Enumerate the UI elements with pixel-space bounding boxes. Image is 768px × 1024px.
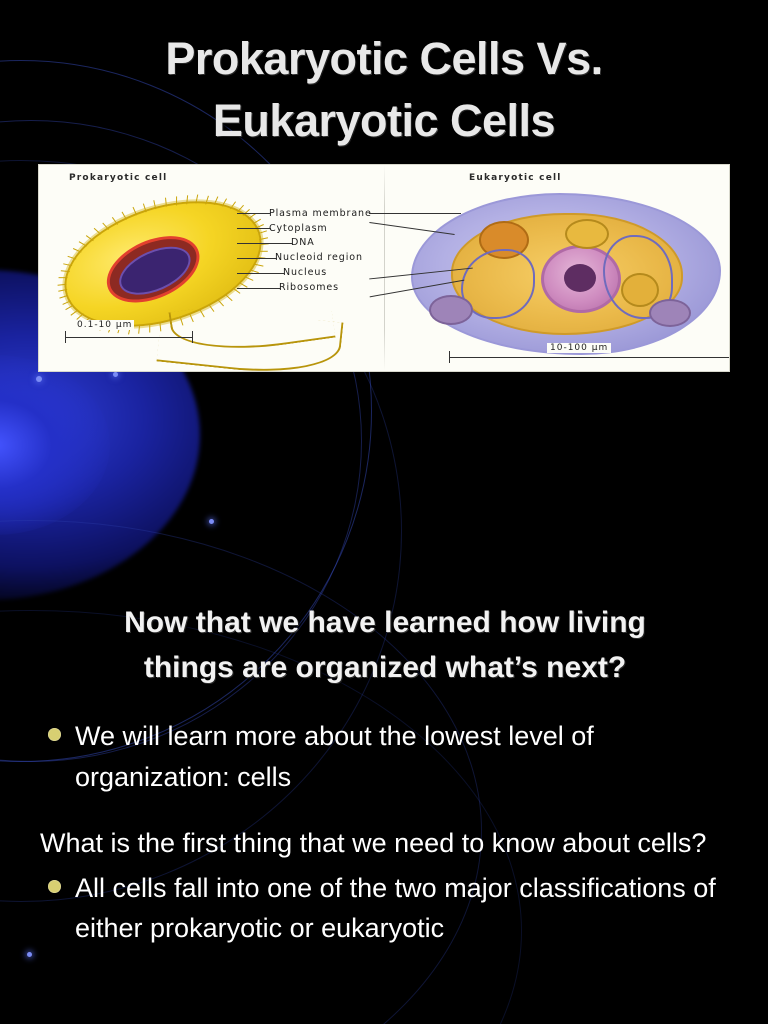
figure-callout-list: Plasma membrane Cytoplasm DNA Nucleoid r…: [269, 207, 469, 295]
pili-illustration: [103, 222, 110, 229]
pili-illustration: [230, 201, 236, 209]
pili-illustration: [176, 196, 177, 205]
pili-illustration: [60, 270, 69, 272]
bullet-dot-icon: [48, 880, 61, 893]
callout-leader-line: [237, 288, 281, 289]
slide-body: Now that we have learned how living thin…: [40, 600, 730, 955]
pili-illustration: [239, 282, 247, 287]
pili-illustration: [63, 263, 72, 266]
vacuole-illustration: [649, 299, 691, 327]
pili-illustration: [222, 198, 227, 206]
figure-label-eukaryotic: Eukaryotic cell: [469, 173, 562, 183]
prokaryotic-cytoplasm-region: [97, 223, 210, 316]
pili-illustration: [248, 213, 256, 219]
scale-label-prokaryotic: 0.1-10 µm: [75, 320, 134, 330]
list-item-text: What is the first thing that we need to …: [40, 823, 730, 864]
eukaryotic-cytoplasm-region: [451, 213, 683, 335]
cell-comparison-figure: Prokaryotic cell Eukaryotic cell 0.1-10 …: [38, 164, 730, 372]
callout-leader-line: [237, 228, 271, 229]
pili-illustration: [259, 237, 268, 240]
pili-illustration: [86, 235, 94, 241]
pili-illustration: [186, 195, 188, 204]
subheading-line-2: things are organized what’s next?: [56, 645, 714, 690]
callout-nucleoid-region: Nucleoid region: [269, 251, 469, 266]
pili-illustration: [112, 217, 118, 225]
subheading-line-1: Now that we have learned how living: [56, 600, 714, 645]
callout-leader-line: [369, 213, 461, 214]
pili-illustration: [70, 310, 78, 316]
pili-illustration: [94, 228, 101, 235]
pili-illustration: [195, 195, 198, 204]
list-item: What is the first thing that we need to …: [40, 823, 730, 864]
callout-leader-line: [237, 273, 285, 274]
vacuole-illustration: [429, 295, 473, 325]
pili-illustration: [122, 212, 127, 220]
bullet-dot-icon: [48, 728, 61, 741]
callout-ribosomes: Ribosomes: [269, 281, 469, 296]
pili-illustration: [214, 197, 219, 206]
pili-illustration: [79, 241, 87, 246]
pili-illustration: [237, 205, 244, 212]
pili-illustration: [62, 300, 71, 305]
callout-leader-line: [237, 258, 277, 259]
pili-illustration: [205, 195, 209, 204]
background-dot: [113, 372, 118, 377]
pili-illustration: [143, 203, 147, 212]
callout-leader-line: [237, 213, 271, 214]
pili-illustration: [243, 209, 250, 216]
pili-illustration: [252, 218, 260, 223]
list-item: All cells fall into one of the two major…: [40, 868, 730, 949]
pili-illustration: [225, 294, 232, 301]
pili-illustration: [258, 230, 267, 234]
pili-illustration: [254, 263, 263, 266]
pili-illustration: [58, 289, 67, 292]
callout-dna: DNA: [269, 236, 469, 251]
background-dot: [209, 519, 214, 524]
pili-illustration: [165, 198, 167, 207]
pili-illustration: [232, 288, 240, 294]
pili-illustration: [259, 251, 268, 252]
pili-illustration: [58, 283, 67, 285]
nucleoid-region-illustration: [112, 237, 198, 304]
pili-illustration: [154, 200, 157, 209]
callout-plasma-membrane: Plasma membrane: [269, 207, 469, 222]
pili-illustration: [132, 207, 137, 216]
scale-label-eukaryotic: 10-100 µm: [547, 343, 611, 353]
background-dot: [36, 376, 42, 382]
list-item-text: We will learn more about the lowest leve…: [75, 716, 730, 797]
organelle-illustration: [565, 219, 609, 249]
callout-leader-line: [237, 243, 293, 244]
title-line-1: Prokaryotic Cells Vs.: [0, 28, 768, 90]
slide-title: Prokaryotic Cells Vs. Eukaryotic Cells: [0, 28, 768, 152]
pili-illustration: [66, 305, 74, 310]
title-line-2: Eukaryotic Cells: [0, 90, 768, 152]
scale-bar-prokaryotic: [65, 331, 193, 343]
figure-label-prokaryotic: Prokaryotic cell: [69, 173, 167, 183]
body-subheading: Now that we have learned how living thin…: [56, 600, 714, 690]
pili-illustration: [59, 295, 68, 299]
background-dot: [27, 952, 32, 957]
pili-illustration: [73, 248, 82, 253]
list-item-text: All cells fall into one of the two major…: [75, 868, 730, 949]
callout-cytoplasm: Cytoplasm: [269, 222, 469, 237]
pili-illustration: [58, 277, 67, 278]
list-item: We will learn more about the lowest leve…: [40, 716, 730, 797]
nucleolus-illustration: [564, 264, 596, 292]
pili-illustration: [245, 276, 254, 281]
pili-illustration: [67, 255, 76, 259]
